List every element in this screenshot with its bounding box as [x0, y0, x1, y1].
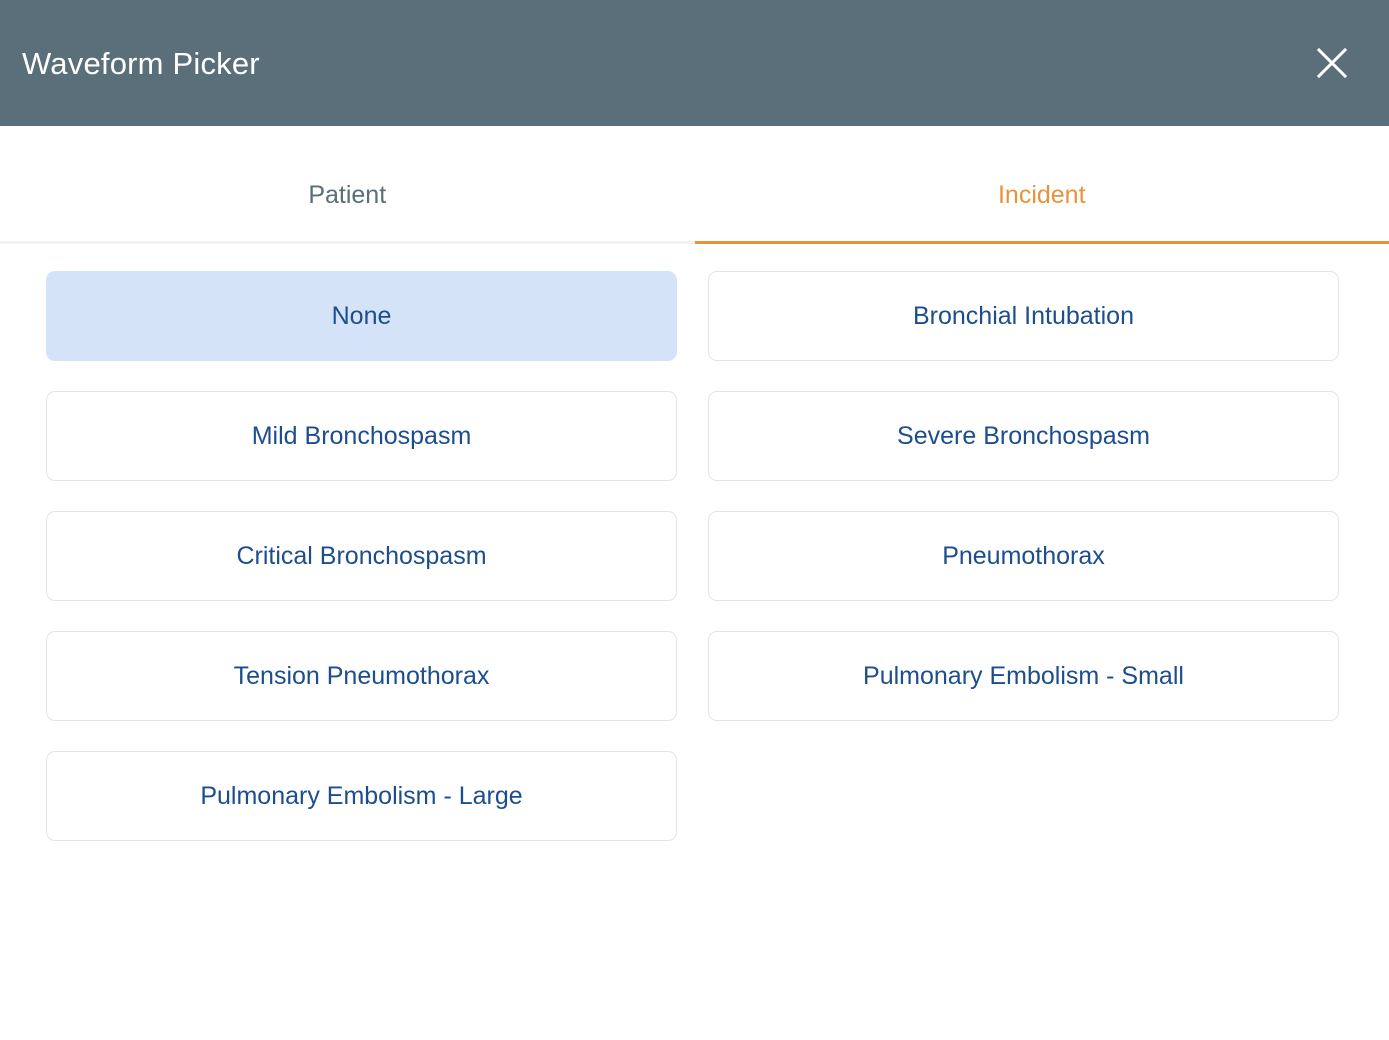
- option-card-bronchial-intubation[interactable]: Bronchial Intubation: [708, 271, 1339, 361]
- option-card-critical-bronchospasm[interactable]: Critical Bronchospasm: [46, 511, 677, 601]
- option-label: Severe Bronchospasm: [897, 421, 1150, 451]
- tab-patient-underline: [0, 241, 695, 244]
- tab-incident-label: Incident: [998, 183, 1086, 208]
- option-label: Bronchial Intubation: [913, 301, 1134, 331]
- option-card-none[interactable]: None: [46, 271, 677, 361]
- option-card-severe-bronchospasm[interactable]: Severe Bronchospasm: [708, 391, 1339, 481]
- option-card-mild-bronchospasm[interactable]: Mild Bronchospasm: [46, 391, 677, 481]
- tab-incident[interactable]: Incident: [695, 126, 1389, 244]
- waveform-option-grid: None Bronchial Intubation Mild Bronchosp…: [46, 271, 1340, 841]
- option-label: Tension Pneumothorax: [234, 661, 490, 691]
- option-card-pulmonary-embolism-large[interactable]: Pulmonary Embolism - Large: [46, 751, 677, 841]
- tab-incident-underline: [695, 241, 1389, 244]
- option-card-tension-pneumothorax[interactable]: Tension Pneumothorax: [46, 631, 677, 721]
- option-label: Critical Bronchospasm: [236, 541, 486, 571]
- option-label: None: [332, 301, 392, 331]
- option-label: Pulmonary Embolism - Large: [200, 781, 522, 811]
- modal-header: Waveform Picker: [0, 0, 1389, 126]
- option-label: Pulmonary Embolism - Small: [863, 661, 1184, 691]
- option-label: Pneumothorax: [942, 541, 1105, 571]
- option-label: Mild Bronchospasm: [252, 421, 472, 451]
- option-card-pulmonary-embolism-small[interactable]: Pulmonary Embolism - Small: [708, 631, 1339, 721]
- option-card-pneumothorax[interactable]: Pneumothorax: [708, 511, 1339, 601]
- grid-cell-empty: [708, 751, 1339, 841]
- close-icon: [1315, 46, 1349, 80]
- close-button[interactable]: [1307, 38, 1357, 88]
- waveform-picker-modal: Waveform Picker Patient Incident None: [0, 0, 1389, 1040]
- tab-bar: Patient Incident: [0, 126, 1389, 244]
- tab-patient[interactable]: Patient: [0, 126, 695, 244]
- tab-patient-label: Patient: [308, 183, 386, 208]
- page-title: Waveform Picker: [22, 48, 260, 79]
- picker-body: None Bronchial Intubation Mild Bronchosp…: [0, 244, 1389, 1040]
